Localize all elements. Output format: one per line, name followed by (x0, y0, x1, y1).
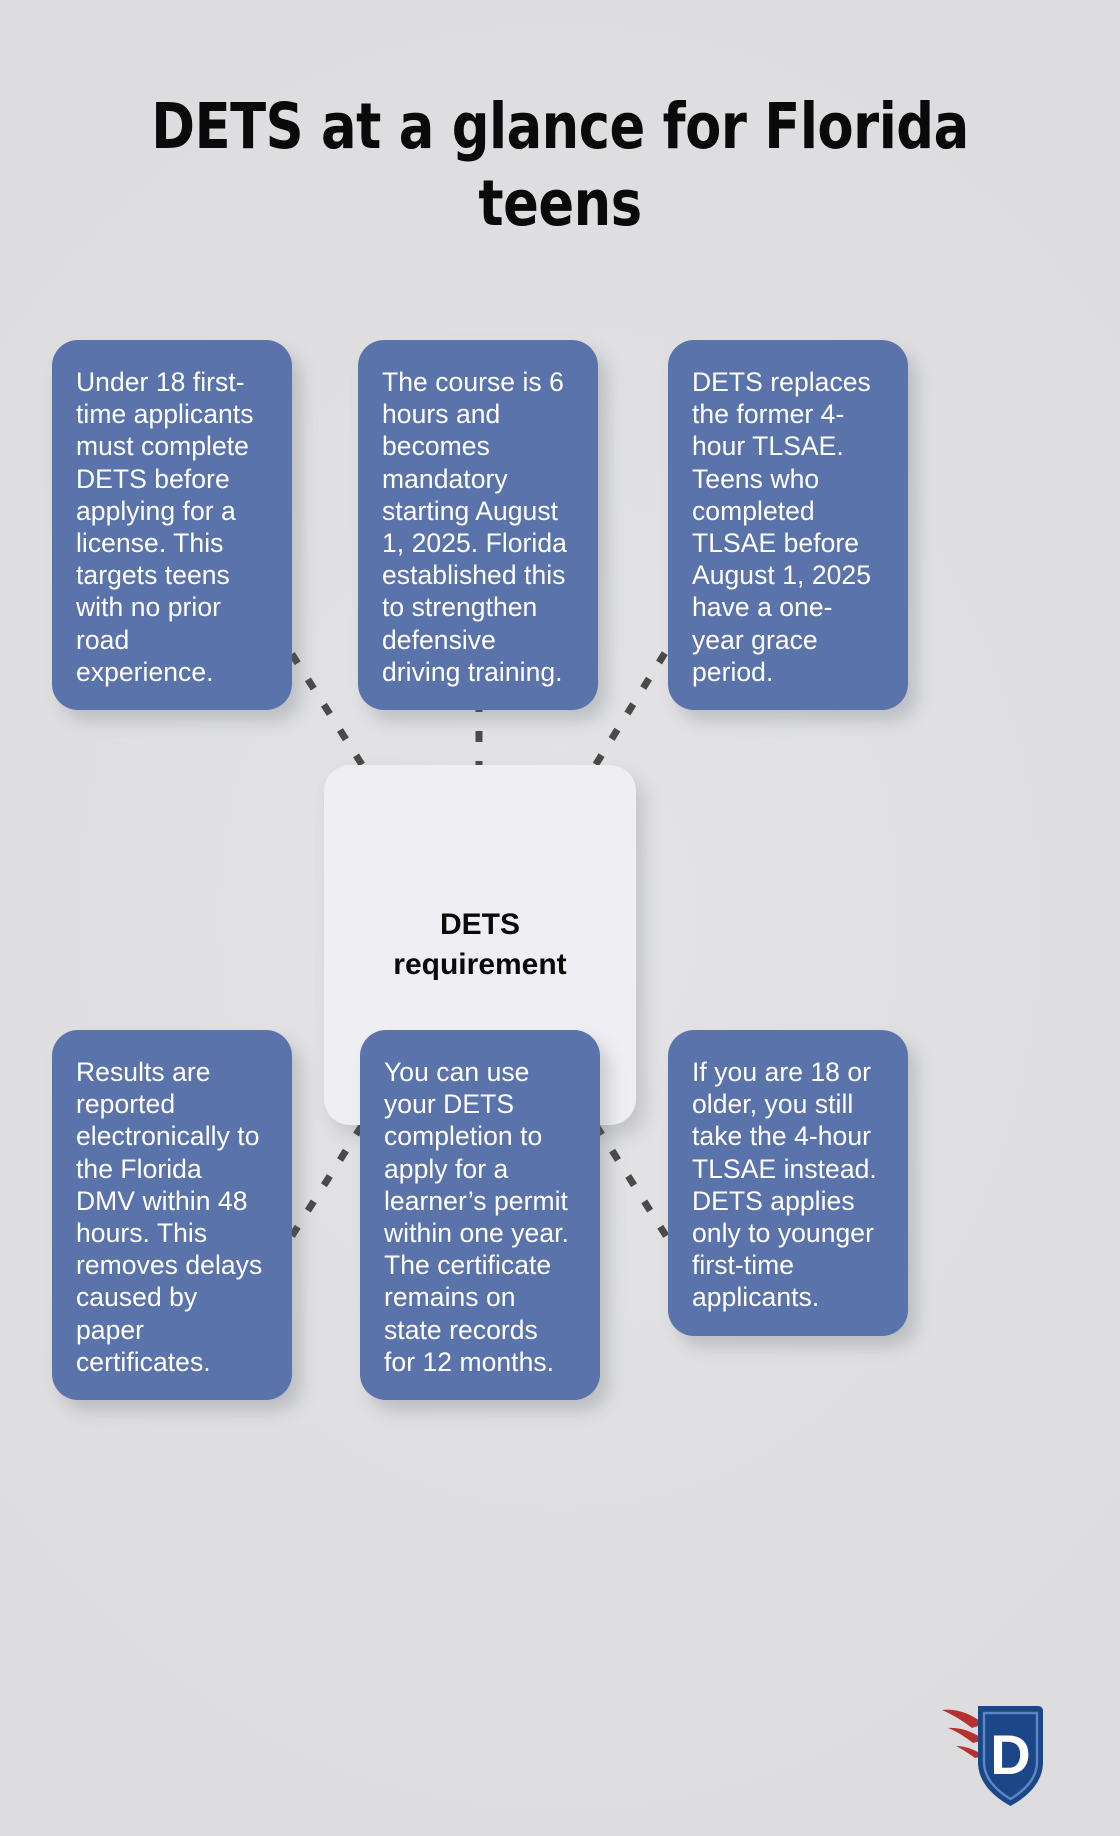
infographic-canvas: DETS at a glance for Florida teens Under… (0, 0, 1120, 1836)
fact-card-top-middle: The course is 6 hours and becomes mandat… (358, 340, 598, 710)
fact-card-bottom-left: Results are reported electronically to t… (52, 1030, 292, 1400)
fact-card-top-right: DETS replaces the former 4-hour TLSAE. T… (668, 340, 908, 710)
winged-shield-logo: D (942, 1702, 1046, 1810)
wing-icon (942, 1710, 984, 1758)
page-title: DETS at a glance for Florida teens (123, 88, 997, 243)
logo-letter: D (990, 1723, 1030, 1786)
fact-card-bottom-right: If you are 18 or older, you still take t… (668, 1030, 908, 1336)
fact-card-bottom-middle: You can use your DETS completion to appl… (360, 1030, 600, 1400)
fact-card-top-left: Under 18 first-time applicants must comp… (52, 340, 292, 710)
central-node-label: DETS requirement (354, 905, 606, 985)
